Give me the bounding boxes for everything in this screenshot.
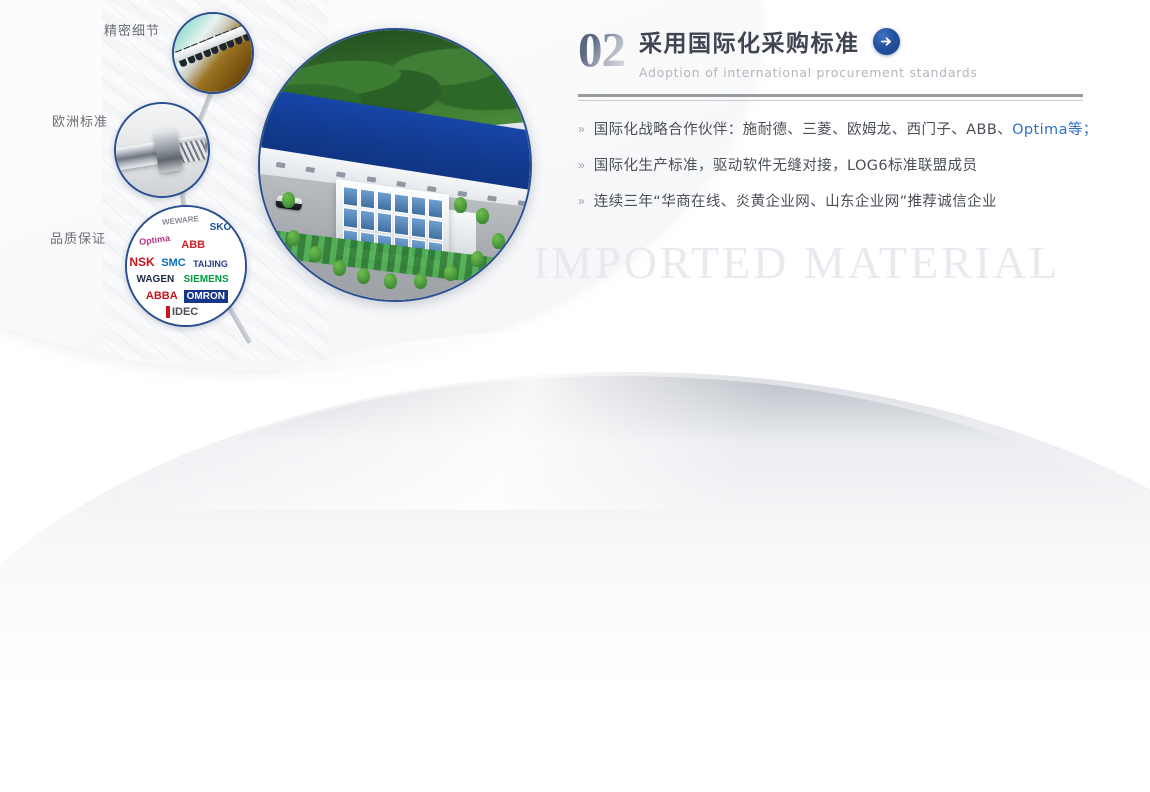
hero-tree (333, 260, 346, 276)
list-item: »国际化生产标准，驱动软件无缝对接，LOG6标准联盟成员 (578, 154, 1098, 175)
list-item-text: 国际化生产标准，驱动软件无缝对接，LOG6标准联盟成员 (594, 158, 978, 174)
section-divider (578, 94, 1083, 101)
brand-logo-omron: OMRON (184, 290, 228, 303)
chevron-right-icon: » (578, 123, 585, 135)
divider-thick-line (578, 94, 1083, 97)
hero-tree (309, 246, 322, 262)
brand-logo-wagen: WAGEN (136, 274, 174, 285)
hero-tree (282, 192, 295, 208)
hero-tree (414, 273, 427, 289)
watermark-text: IMPORTED MATERIAL (533, 236, 1060, 289)
bubble-ball-screw (114, 102, 210, 198)
brand-logo-abba: ABBA (146, 290, 178, 302)
brand-logo-sko: SKO (210, 222, 232, 233)
background-curve-shadow (30, 376, 1150, 636)
brand-logo-weware: WEWARE (162, 215, 200, 228)
page-title: 采用国际化采购标准 (639, 24, 860, 58)
list-item-label: 连续三年“华商在线、炎黄企业网、山东企业网”推荐诚信企业 (594, 190, 997, 211)
bubble-brand-logos: WEWARESKOABBOptimaNSKSMCTAIJINGWAGENSIEM… (125, 205, 247, 327)
hero-tree (476, 208, 489, 224)
chevron-right-icon: » (578, 195, 585, 207)
hero-tree (287, 230, 300, 246)
list-item: »国际化战略合作伙伴：施耐德、三菱、欧姆龙、西门子、ABB、Optima等； (578, 118, 1098, 139)
section-subtitle: Adoption of international procurement st… (639, 65, 978, 80)
list-item-text: 连续三年“华商在线、炎黄企业网、山东企业网”推荐诚信企业 (594, 194, 997, 210)
hero-tree (492, 233, 505, 249)
brand-logo-idec: IDEC (166, 306, 198, 318)
section-title-line: 采用国际化采购标准 (639, 24, 978, 58)
label-european-standard: 欧洲标准 (52, 111, 108, 130)
list-item-label: 国际化生产标准，驱动软件无缝对接，LOG6标准联盟成员 (594, 154, 978, 175)
list-item-label: 国际化战略合作伙伴：施耐德、三菱、欧姆龙、西门子、ABB、Optima等； (594, 118, 1098, 139)
hero-tree (357, 268, 370, 284)
brand-logo-taijing: TAIJING (193, 259, 228, 269)
chevron-right-icon: » (578, 159, 585, 171)
hero-tree (471, 251, 484, 267)
brand-logo-optima: Optima (138, 233, 170, 247)
list-item-highlight: Optima等； (1012, 122, 1098, 138)
brand-logo-cloud: WEWARESKOABBOptimaNSKSMCTAIJINGWAGENSIEM… (127, 207, 245, 325)
label-precision-detail: 精密细节 (104, 20, 160, 39)
background-curve-bottom (0, 372, 1150, 792)
brand-logo-siemens: SIEMENS (184, 274, 229, 285)
brand-logo-abb: ABB (181, 239, 205, 251)
brand-logo-nsk: NSK (129, 255, 154, 269)
bubble-gear-macro (172, 12, 254, 94)
section-heading-texts: 采用国际化采购标准 Adoption of international proc… (639, 22, 978, 80)
arrow-right-icon[interactable] (873, 28, 900, 55)
label-quality-assurance: 品质保证 (50, 228, 106, 247)
section-content: 02 采用国际化采购标准 Adoption of international p… (578, 22, 1098, 226)
list-item-text: 国际化战略合作伙伴：施耐德、三菱、欧姆龙、西门子、ABB、 (594, 122, 1012, 138)
section-header: 02 采用国际化采购标准 Adoption of international p… (578, 22, 1098, 80)
feature-bullet-list: »国际化战略合作伙伴：施耐德、三菱、欧姆龙、西门子、ABB、Optima等；»国… (578, 118, 1098, 211)
factory-aerial-photo (258, 28, 532, 302)
section-number: 02 (578, 22, 625, 74)
list-item: »连续三年“华商在线、炎黄企业网、山东企业网”推荐诚信企业 (578, 190, 1098, 211)
hero-tree (384, 273, 397, 289)
divider-thin-line (578, 100, 1083, 101)
brand-logo-smc: SMC (161, 257, 185, 269)
hero-tree (444, 265, 457, 281)
